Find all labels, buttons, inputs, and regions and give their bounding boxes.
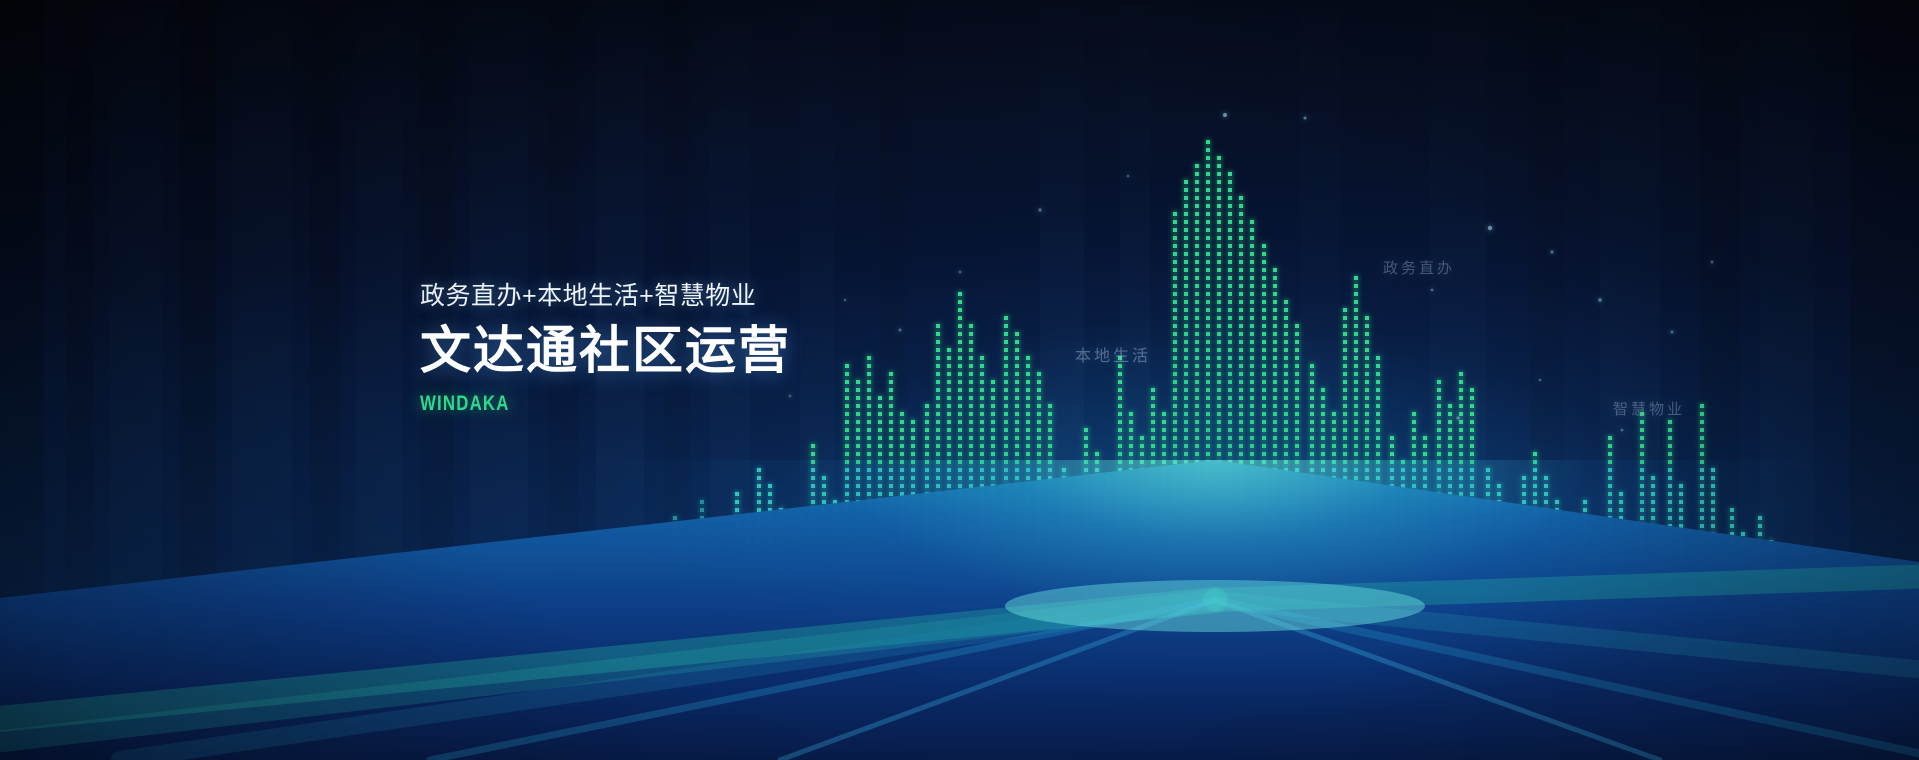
banner-subline: 政务直办+本地生活+智慧物业 <box>420 284 791 309</box>
ghost-label-2: 本地生活 <box>1075 342 1151 366</box>
headline-block: 政务直办+本地生活+智慧物业 文达通社区运营 WINDAKA <box>420 284 791 416</box>
brand-wordmark: WINDAKA <box>420 392 717 416</box>
banner-stage: 政务直办+本地生活+智慧物业 文达通社区运营 WINDAKA 政务直办本地生活智… <box>0 0 1919 760</box>
ghost-label-1: 政务直办 <box>1383 257 1455 278</box>
ghost-label-3: 智慧物业 <box>1613 398 1685 419</box>
banner-headline: 文达通社区运营 <box>420 325 791 376</box>
